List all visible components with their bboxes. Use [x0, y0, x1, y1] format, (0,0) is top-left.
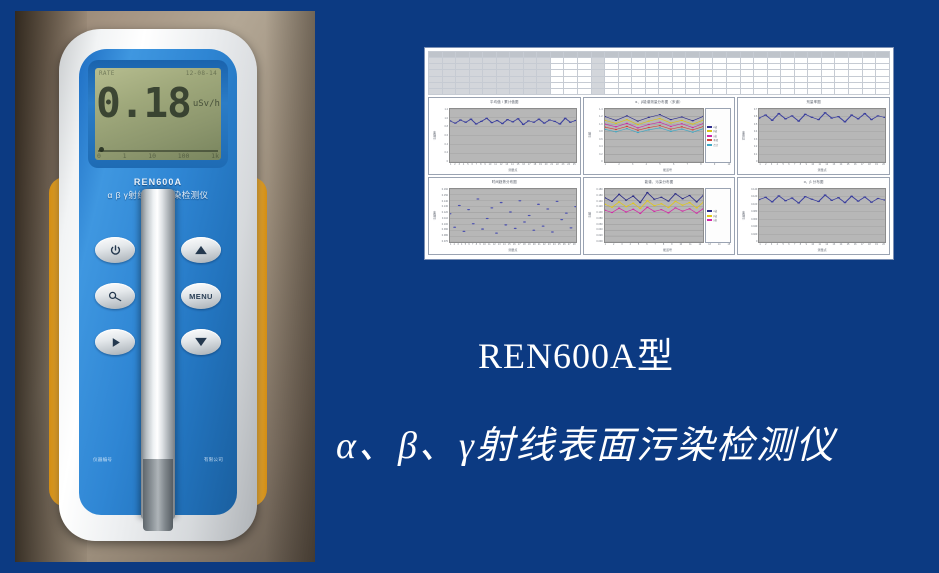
y-tick: 0.080	[746, 210, 757, 213]
table-cell	[537, 88, 551, 94]
chart-title: 平均值 / 累计值图	[432, 100, 577, 108]
y-tick: 0.2	[592, 153, 603, 156]
chart-x-axis-label: 测量点	[449, 168, 577, 173]
legend-swatch	[707, 219, 712, 221]
y-tick: 1.0	[437, 117, 448, 120]
y-tick: 0.040	[746, 225, 757, 228]
y-tick: 0.080	[592, 217, 603, 220]
product-photo: RATE 12-08-14 0.18 uSv/h 0 1	[15, 11, 315, 562]
table-cell	[848, 88, 862, 94]
legend-item: β道	[707, 214, 729, 218]
lcd-screen: RATE 12-08-14 0.18 uSv/h 0 1	[95, 68, 221, 160]
y-tick: 0.120	[437, 211, 448, 214]
y-tick: 0.080	[437, 234, 448, 237]
chart-plot-area	[604, 188, 705, 243]
chart-title: α、β 分布图	[741, 180, 886, 188]
chart-card: α、β能谱测量分布图（多道）计数1.41.21.00.80.60.40.20α道…	[583, 97, 736, 175]
y-tick: 0.2	[746, 145, 757, 148]
lcd-status-right: 12-08-14	[186, 70, 217, 77]
table-cell	[754, 88, 768, 94]
legend-swatch	[707, 144, 712, 146]
y-tick: 0.000	[592, 240, 603, 243]
y-tick: 1.4	[592, 108, 603, 111]
lcd-tick: 1k	[211, 152, 219, 160]
key-icon	[108, 290, 123, 302]
table-cell	[469, 88, 483, 94]
y-tick: 0.140	[592, 200, 603, 203]
lcd-tick: 0	[97, 152, 101, 160]
y-tick: 0.5	[746, 123, 757, 126]
table-cell	[564, 88, 578, 94]
y-tick: 0	[746, 160, 757, 163]
legend-swatch	[707, 126, 712, 128]
triangle-down-icon	[194, 336, 208, 348]
table-cell	[591, 88, 605, 94]
chart-plot-area	[449, 188, 577, 243]
y-tick: 0.7	[746, 108, 757, 111]
chart-title: 时间趋势分布图	[432, 180, 577, 188]
lcd-unit: uSv/h	[193, 99, 220, 109]
triangle-up-icon	[194, 244, 208, 256]
power-icon	[109, 244, 122, 257]
lcd-bezel: RATE 12-08-14 0.18 uSv/h 0 1	[88, 60, 228, 168]
table-cell	[456, 88, 470, 94]
y-tick: 0.090	[437, 228, 448, 231]
play-icon	[109, 336, 122, 349]
chart-card: 剂量率图剂量率0.70.60.50.40.30.20.1012345678910…	[737, 97, 890, 175]
legend-item: 本底	[707, 138, 729, 142]
legend-item: γ道	[707, 218, 729, 222]
lcd-tick: 10	[148, 152, 156, 160]
y-tick: 0.110	[437, 217, 448, 220]
y-tick: 0.3	[746, 138, 757, 141]
y-tick: 0.150	[437, 194, 448, 197]
chart-y-ticks: 0.1800.1600.1400.1200.1000.0800.0600.040…	[592, 188, 604, 243]
chart-title: α、β能谱测量分布图（多道）	[587, 100, 732, 108]
chart-legend: α道β道γ道本底合计	[705, 108, 731, 163]
chart-x-axis-label: 测量点	[758, 248, 886, 253]
chart-plot-area	[604, 108, 705, 163]
table-cell	[808, 88, 822, 94]
table-cell	[781, 88, 795, 94]
chart-x-axis-label: 能道号	[604, 248, 732, 253]
photo-shadow-right	[265, 11, 315, 562]
table-cell	[429, 88, 443, 94]
chart-title: 能谱、污染分布图	[587, 180, 732, 188]
legend-label: α道	[713, 125, 717, 129]
legend-swatch	[707, 135, 712, 137]
y-tick: 0.6	[592, 138, 603, 141]
lcd-tick: 1	[123, 152, 127, 160]
y-tick: 0.070	[437, 240, 448, 243]
chart-legend: α道β道γ道	[705, 188, 731, 243]
y-tick: 0.140	[437, 200, 448, 203]
y-tick: 0.180	[592, 188, 603, 191]
device-model-label: REN600A	[79, 177, 237, 187]
y-tick: 0.130	[437, 205, 448, 208]
y-tick: 0.020	[746, 233, 757, 236]
software-screenshot-panel: 平均值 / 累计值图计数率1.21.00.80.60.40.2012345678…	[424, 47, 894, 260]
legend-item: α道	[707, 125, 729, 129]
y-tick: 0.8	[437, 125, 448, 128]
y-tick: 0.120	[592, 205, 603, 208]
chart-y-ticks: 0.70.60.50.40.30.20.10	[746, 108, 758, 163]
y-tick: 0.160	[437, 188, 448, 191]
table-cell	[686, 88, 700, 94]
y-tick: 0.060	[592, 223, 603, 226]
table-cell	[523, 88, 537, 94]
keypad-right: MENU	[181, 237, 221, 355]
table-cell	[550, 88, 564, 94]
y-tick: 0.060	[746, 218, 757, 221]
chart-y-axis-label: 计数	[587, 108, 592, 163]
table-cell	[510, 88, 524, 94]
chart-x-axis-label: 测量点	[758, 168, 886, 173]
y-tick: 0.140	[746, 188, 757, 191]
legend-item: β道	[707, 129, 729, 133]
y-tick: 0.6	[746, 115, 757, 118]
chart-plot-area	[758, 188, 886, 243]
y-tick: 0.4	[592, 145, 603, 148]
legend-label: β道	[713, 214, 717, 218]
legend-label: 合计	[713, 143, 718, 147]
table-cell	[767, 88, 781, 94]
up-button[interactable]	[181, 237, 221, 263]
search-button[interactable]	[95, 283, 135, 309]
y-tick: 0.160	[592, 194, 603, 197]
y-tick: 1.2	[437, 108, 448, 111]
legend-item: α道	[707, 209, 729, 213]
legend-item: 合计	[707, 143, 729, 147]
chart-y-axis-label: 剂量率	[741, 108, 746, 163]
chart-card: 平均值 / 累计值图计数率1.21.00.80.60.40.2012345678…	[428, 97, 581, 175]
lcd-value: 0.18	[96, 84, 191, 123]
menu-button[interactable]: MENU	[181, 283, 221, 309]
power-button[interactable]	[95, 237, 135, 263]
chart-title: 剂量率图	[741, 100, 886, 108]
table-cell	[632, 88, 646, 94]
bottom-mark-left: 仪器编号	[93, 457, 112, 463]
chart-grid: 平均值 / 累计值图计数率1.21.00.80.60.40.2012345678…	[428, 97, 890, 255]
legend-label: β道	[713, 129, 717, 133]
chart-y-axis-label: 计数率	[741, 188, 746, 243]
lcd-tick: 100	[178, 152, 190, 160]
table-cell	[699, 88, 713, 94]
y-tick: 0	[746, 240, 757, 243]
detector-device: RATE 12-08-14 0.18 uSv/h 0 1	[47, 29, 269, 541]
chart-card: α、β 分布图计数率0.1400.1200.1000.0800.0600.040…	[737, 177, 890, 255]
table-cell	[605, 88, 619, 94]
chart-x-axis-label: 测量点	[449, 248, 577, 253]
keypad-left	[95, 237, 135, 355]
y-tick: 0.020	[592, 234, 603, 237]
data-table	[428, 51, 890, 95]
chart-y-ticks: 1.21.00.80.60.40.20	[437, 108, 449, 163]
table-cell	[496, 88, 510, 94]
chart-x-axis-label: 能道号	[604, 168, 732, 173]
chart-y-axis-label: 计数率	[432, 188, 437, 243]
table-cell	[618, 88, 632, 94]
product-title: REN600A型	[478, 327, 674, 379]
table-row	[429, 88, 890, 94]
legend-label: γ道	[713, 134, 717, 138]
chart-card: 时间趋势分布图计数率0.1600.1500.1400.1300.1200.110…	[428, 177, 581, 255]
table-cell	[740, 88, 754, 94]
y-tick: 0.4	[746, 130, 757, 133]
y-tick: 0.4	[437, 143, 448, 146]
chart-y-axis-label: 计数率	[432, 108, 437, 163]
y-tick: 0.100	[437, 223, 448, 226]
chart-y-axis-label: 计数	[587, 188, 592, 243]
legend-label: γ道	[713, 218, 717, 222]
bottom-mark-right: 有限公司	[204, 457, 223, 463]
table-cell	[578, 88, 592, 94]
y-tick: 0.2	[437, 151, 448, 154]
legend-swatch	[707, 139, 712, 141]
y-tick: 0.040	[592, 228, 603, 231]
play-button[interactable]	[95, 329, 135, 355]
lcd-scale-ticks: 0 1 10 100 1k	[97, 152, 219, 160]
legend-swatch	[707, 210, 712, 212]
lcd-status-bar: RATE 12-08-14	[95, 68, 221, 77]
lcd-reading: 0.18 uSv/h	[95, 84, 221, 123]
y-tick: 0.8	[592, 130, 603, 133]
y-tick: 0.6	[437, 134, 448, 137]
table-cell	[862, 88, 876, 94]
legend-label: 本底	[713, 138, 718, 142]
table-cell	[821, 88, 835, 94]
lcd-status-left: RATE	[99, 70, 115, 77]
table-cell	[876, 88, 890, 94]
down-button[interactable]	[181, 329, 221, 355]
table-cell	[483, 88, 497, 94]
y-tick: 0	[592, 160, 603, 163]
legend-swatch	[707, 215, 712, 217]
table-cell	[835, 88, 849, 94]
table-cell	[442, 88, 456, 94]
table-cell	[645, 88, 659, 94]
menu-button-label: MENU	[189, 292, 213, 301]
chart-y-ticks: 0.1400.1200.1000.0800.0600.0400.0200	[746, 188, 758, 243]
legend-item: γ道	[707, 134, 729, 138]
chart-card: 能谱、污染分布图计数0.1800.1600.1400.1200.1000.080…	[583, 177, 736, 255]
product-subtitle: α、β、γ射线表面污染检测仪	[336, 414, 836, 469]
table-cell	[794, 88, 808, 94]
y-tick: 0.100	[592, 211, 603, 214]
y-tick: 0	[437, 160, 448, 163]
legend-label: α道	[713, 209, 717, 213]
table-cell	[727, 88, 741, 94]
chart-plot-area	[758, 108, 886, 163]
probe-connector	[143, 459, 173, 531]
y-tick: 0.120	[746, 195, 757, 198]
table-cell	[713, 88, 727, 94]
y-tick: 1.2	[592, 115, 603, 118]
table-cell	[659, 88, 673, 94]
table-cell	[672, 88, 686, 94]
y-tick: 0.100	[746, 203, 757, 206]
chart-y-ticks: 1.41.21.00.80.60.40.20	[592, 108, 604, 163]
chart-plot-area	[449, 108, 577, 163]
legend-swatch	[707, 130, 712, 132]
y-tick: 1.0	[592, 123, 603, 126]
chart-y-ticks: 0.1600.1500.1400.1300.1200.1100.1000.090…	[437, 188, 449, 243]
y-tick: 0.1	[746, 153, 757, 156]
